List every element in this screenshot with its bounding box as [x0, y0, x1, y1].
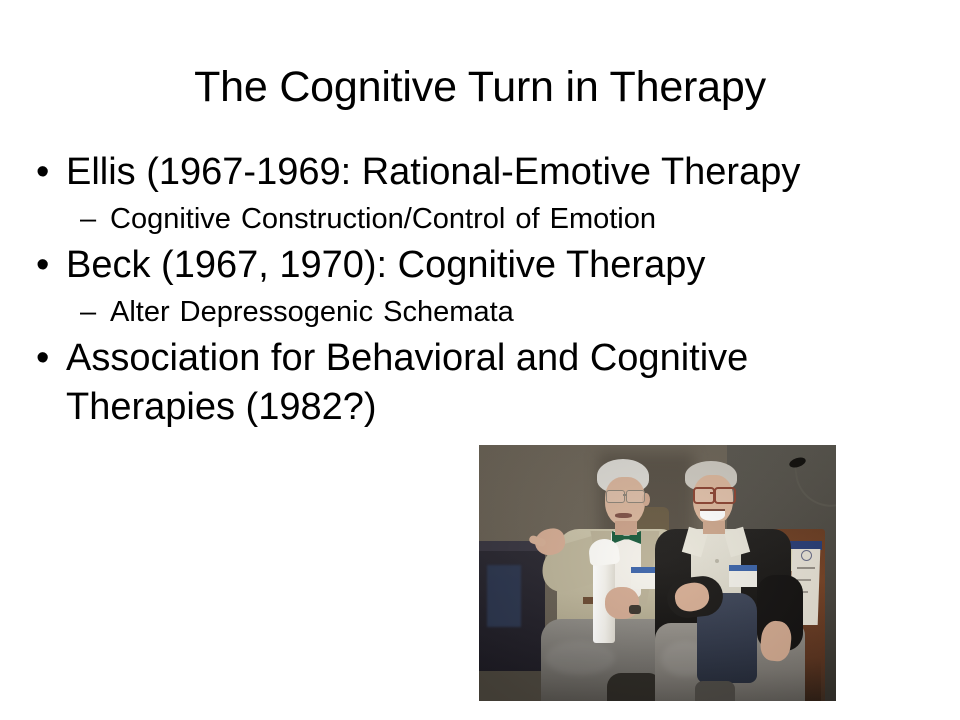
conference-photo [479, 445, 836, 701]
sub-bullet-text: Cognitive Construction/Control of Emotio… [110, 197, 920, 241]
photo-right-subject-smile [700, 509, 725, 521]
sub-bullet-text: Alter Depressogenic Schemata [110, 290, 920, 334]
sub-bullet-item: – Cognitive Construction/Control of Emot… [30, 197, 920, 241]
photo-left-subject-hand [605, 587, 639, 619]
photo-podium-text-line [797, 579, 811, 581]
bullet-item: • Ellis (1967-1969: Rational-Emotive The… [30, 148, 920, 197]
photo-left-subject-glasses-lens [626, 490, 645, 503]
bullet-text: Ellis (1967-1969: Rational-Emotive Thera… [66, 148, 886, 197]
photo-right-subject-glasses-lens [693, 487, 715, 504]
photo-right-subject-glasses-lens [714, 487, 736, 504]
photo-table-blue-cloth [487, 565, 521, 627]
sub-bullet-dash-icon: – [80, 290, 96, 334]
bullet-marker-icon: • [36, 241, 49, 290]
bullet-marker-icon: • [36, 334, 49, 383]
photo-right-subject-shirt-button [715, 559, 719, 563]
photo-left-subject-wristwatch [629, 605, 641, 614]
photo-right-subject-name-badge [729, 565, 757, 587]
photo-left-subject-glasses-bridge [623, 494, 627, 496]
photo-right-subject-glasses-bridge [710, 492, 715, 494]
bullet-item: • Association for Behavioral and Cogniti… [30, 334, 920, 432]
bullet-item: • Beck (1967, 1970): Cognitive Therapy [30, 241, 920, 290]
photo-right-subject-sock [695, 681, 735, 701]
bullet-text: Beck (1967, 1970): Cognitive Therapy [66, 241, 886, 290]
photo-left-subject-shoe [607, 673, 659, 701]
sub-bullet-item: – Alter Depressogenic Schemata [30, 290, 920, 334]
slide-title: The Cognitive Turn in Therapy [0, 62, 960, 112]
bullet-list: • Ellis (1967-1969: Rational-Emotive The… [30, 148, 920, 432]
photo-left-subject-mouth [615, 513, 632, 518]
photo-left-subject-neck [615, 521, 637, 535]
photo-podium-seal-icon [801, 550, 812, 561]
photo-right-subject-neck [703, 521, 725, 534]
photo-podium-text-line [797, 567, 815, 569]
presentation-slide: The Cognitive Turn in Therapy • Ellis (1… [0, 0, 960, 720]
photo-left-subject-knee-highlight [545, 641, 615, 675]
bullet-marker-icon: • [36, 148, 49, 197]
sub-bullet-dash-icon: – [80, 197, 96, 241]
photo-left-subject-glasses-lens [606, 490, 625, 503]
bullet-text: Association for Behavioral and Cognitive… [66, 334, 886, 432]
